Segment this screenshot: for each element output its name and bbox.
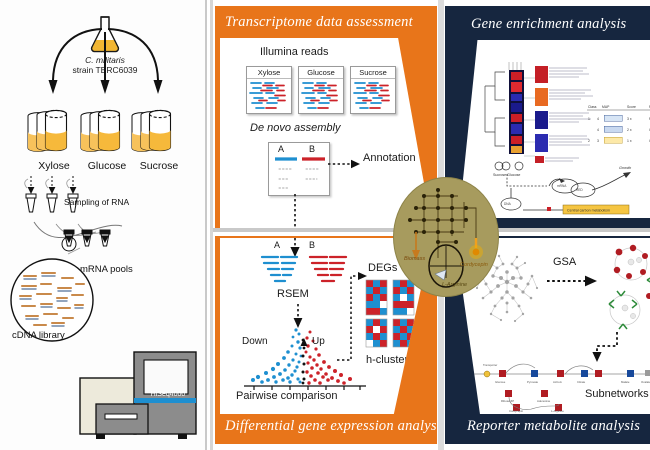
svg-text:2 x: 2 x bbox=[627, 128, 632, 132]
reporter-subnetwork-clusters bbox=[603, 242, 650, 338]
circle-label-modeling: L-Arginine bbox=[442, 282, 467, 288]
panel-title-gene-enrichment: Gene enrichment analysis bbox=[471, 16, 626, 33]
culture-jars bbox=[22, 106, 192, 162]
up-label: Up bbox=[312, 336, 325, 347]
svg-text:3 x: 3 x bbox=[627, 117, 632, 121]
cdna-library-label: cDNA library bbox=[12, 330, 65, 341]
circle-label-biomass: Biomass bbox=[404, 256, 425, 262]
circle-label-cordycepin: Cordycepin bbox=[460, 262, 488, 268]
read-stack-icon bbox=[247, 79, 289, 112]
svg-text:MAP: MAP bbox=[602, 105, 610, 109]
svg-text:Score: Score bbox=[627, 105, 636, 109]
assembly-bars-icon bbox=[273, 157, 327, 193]
enrichment-score-table: ClassMAP ScoreP 14 3 xREG 42 xOK 23 1 xO… bbox=[587, 102, 650, 150]
panel-title-reporter-metabolite: Reporter metabolite analysis bbox=[467, 418, 640, 435]
svg-text:Adenosine: Adenosine bbox=[537, 399, 551, 403]
svg-text:mRNA: mRNA bbox=[557, 184, 567, 188]
condition-a-label: A bbox=[274, 240, 280, 250]
svg-text:4: 4 bbox=[597, 117, 599, 121]
assembly-output-card: A B bbox=[268, 142, 330, 196]
vertical-gutter bbox=[210, 0, 213, 450]
read-file-sucrose: Sucrose bbox=[350, 66, 396, 114]
subnetworks-label: Subnetworks bbox=[585, 388, 649, 400]
illumina-reads-heading: Illumina reads bbox=[260, 46, 328, 58]
central-carbon-metabolism-scheme: Sucrose Glucose mRNAREDDNA Growth bbox=[487, 160, 650, 220]
gsa-arrow bbox=[547, 274, 599, 288]
svg-text:Oxalate: Oxalate bbox=[641, 380, 650, 384]
read-file-glucose-label: Glucose bbox=[299, 67, 343, 79]
gsa-label: GSA bbox=[553, 256, 576, 268]
workflow-figure: C. militaris strain TBRC6039 bbox=[0, 0, 650, 450]
svg-text:Transporter: Transporter bbox=[483, 363, 497, 367]
svg-text:Pyruvate: Pyruvate bbox=[527, 380, 538, 384]
sampling-label: Sampling of RNA bbox=[64, 197, 129, 207]
genome-scale-model-circle: Biomass Cordycepin L-Arginine bbox=[394, 178, 498, 296]
svg-text:L-Arginine: L-Arginine bbox=[551, 409, 564, 413]
svg-text:Class: Class bbox=[588, 105, 597, 109]
rsem-label: RSEM bbox=[277, 288, 309, 300]
read-file-glucose: Glucose bbox=[298, 66, 344, 114]
svg-text:1: 1 bbox=[588, 117, 590, 121]
svg-text:DNA: DNA bbox=[504, 202, 512, 206]
annotation-label: Annotation bbox=[363, 152, 416, 164]
svg-text:RED: RED bbox=[576, 188, 583, 192]
sequencer-illustration: HiSeq4000 bbox=[78, 346, 198, 442]
read-stack-icon bbox=[351, 79, 393, 112]
central-carbon-text: Central carbon metabolism bbox=[567, 209, 610, 213]
svg-text:Ribose-5P: Ribose-5P bbox=[501, 399, 514, 403]
assembly-col-b: B bbox=[309, 144, 315, 154]
experimental-setup-panel: C. militaris strain TBRC6039 bbox=[0, 0, 207, 450]
read-stack-icon bbox=[299, 79, 341, 112]
assembly-col-a: A bbox=[278, 144, 284, 154]
svg-text:Cordycepin: Cordycepin bbox=[509, 409, 524, 413]
svg-text:Malate: Malate bbox=[621, 380, 630, 384]
hcluster-label: h-cluster bbox=[366, 354, 408, 366]
degs-label: DEGs bbox=[368, 262, 397, 274]
growth-caption: Growth bbox=[619, 166, 631, 170]
svg-text:AcCoA: AcCoA bbox=[553, 380, 562, 384]
metabolic-network-graph bbox=[394, 178, 498, 296]
flow-connector-down bbox=[292, 194, 298, 228]
read-file-sucrose-label: Sucrose bbox=[351, 67, 395, 79]
panel-title-transcriptome: Transcriptome data assessment bbox=[225, 14, 413, 31]
read-file-xylose: Xylose bbox=[246, 66, 292, 114]
svg-text:1 x: 1 x bbox=[627, 139, 632, 143]
svg-text:4: 4 bbox=[597, 128, 599, 132]
culture-label-sucrose: Sucrose bbox=[128, 160, 190, 172]
condition-b-label: B bbox=[309, 240, 315, 250]
annotation-arrow bbox=[328, 158, 362, 170]
down-label: Down bbox=[242, 336, 268, 347]
inoculation-arrows bbox=[20, 24, 190, 110]
left-panel-divider bbox=[205, 0, 207, 450]
sequencer-model-text: HiSeq4000 bbox=[151, 391, 186, 398]
svg-text:3: 3 bbox=[597, 139, 599, 143]
subnetwork-pathway-map: GlucosePyruvate AcCoACitrate MalateOxala… bbox=[469, 356, 650, 412]
read-file-xylose-label: Xylose bbox=[247, 67, 291, 79]
pairwise-comparison-label: Pairwise comparison bbox=[236, 390, 337, 402]
panel-title-deg: Differential gene expression analysis bbox=[225, 418, 437, 435]
de-novo-assembly-heading: De novo assembly bbox=[250, 122, 341, 134]
svg-text:Citrate: Citrate bbox=[577, 380, 586, 384]
svg-text:Glucose: Glucose bbox=[495, 380, 506, 384]
svg-text:2: 2 bbox=[588, 139, 590, 143]
